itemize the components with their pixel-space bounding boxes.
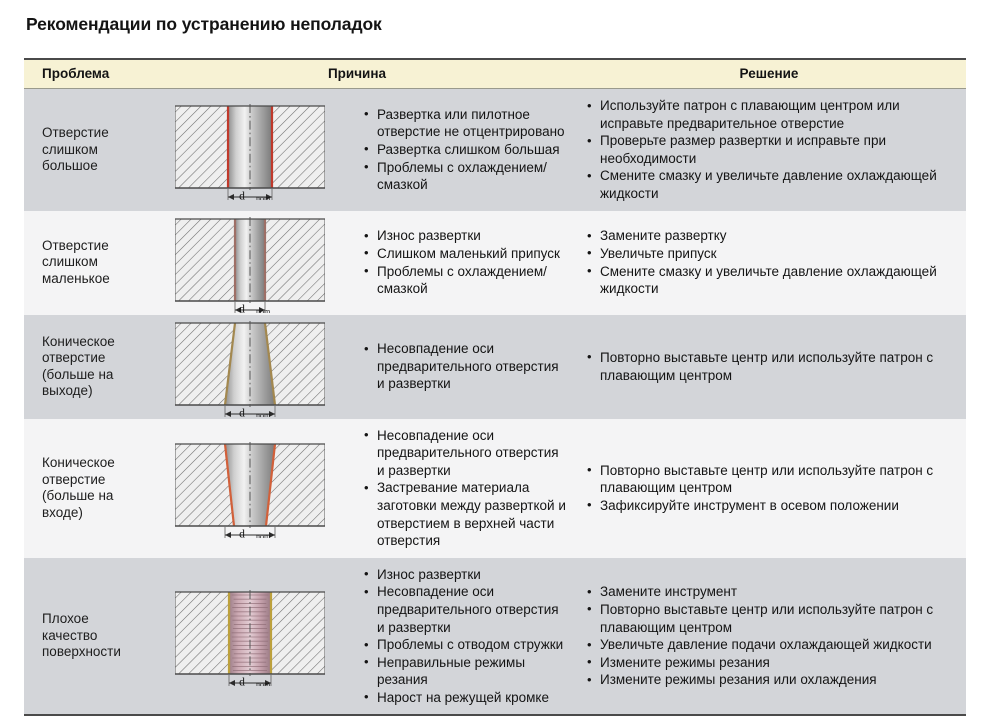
problem-label-line: поверхности	[42, 644, 136, 661]
cause-list: Износ разверткиСлишком маленький припуск…	[363, 227, 566, 297]
problem-label-line: Коническое	[42, 334, 136, 351]
problem-label-line: большое	[42, 158, 136, 175]
problem-label-line: качество	[42, 628, 136, 645]
problem-label-line: маленькое	[42, 271, 136, 288]
column-header-problem: Проблема	[24, 60, 142, 89]
cause-list: Износ разверткиНесовпадение оси предвари…	[363, 566, 566, 707]
hole-cross-section-diagram: d nom	[142, 558, 357, 715]
cause-item: Застревание материала заготовки между ра…	[363, 479, 566, 549]
hole-undersized-figure: d nom	[175, 215, 325, 313]
hole-cross-section-diagram: d nom	[142, 211, 357, 315]
solution-item: Измените режимы резания	[586, 654, 960, 672]
problem-label-line: слишком	[42, 142, 136, 159]
problem-label: Коническоеотверстие(больше навходе)	[24, 419, 142, 558]
table-row: Коническоеотверстие(больше навходе)	[24, 419, 966, 558]
problem-label-line: Коническое	[42, 455, 136, 472]
hole-cross-section-diagram: d nom	[142, 315, 357, 419]
svg-text:nom: nom	[256, 194, 271, 200]
solution-list: Замените разверткуУвеличьте припускСмени…	[586, 227, 960, 297]
hole-taper-exit-figure: d nom	[175, 319, 325, 417]
solution-item: Замените развертку	[586, 227, 960, 245]
solution-list-cell: Используйте патрон с плавающим центром и…	[572, 89, 966, 211]
cause-list-cell: Развертка или пилотное отверстие не отце…	[357, 89, 572, 211]
solution-list: Замените инструментПовторно выставьте це…	[586, 583, 960, 689]
problem-label: Отверстиеслишкомбольшое	[24, 89, 142, 211]
svg-text:d: d	[239, 303, 245, 313]
hole-cross-section-diagram: d nom	[142, 89, 357, 211]
cause-list-cell: Износ разверткиНесовпадение оси предвари…	[357, 558, 572, 715]
cause-list-cell: Износ разверткиСлишком маленький припуск…	[357, 211, 572, 315]
problem-label-line: входе)	[42, 505, 136, 522]
cause-item: Развертка слишком большая	[363, 141, 566, 159]
hole-rough-surface-figure: d nom	[175, 588, 325, 686]
svg-text:d: d	[239, 407, 245, 417]
solution-item: Повторно выставьте центр или используйте…	[586, 601, 960, 636]
cause-item: Нарост на режущей кромке	[363, 689, 566, 707]
cause-item: Неправильные режимы резания	[363, 654, 566, 689]
hole-taper-entry-figure: d nom	[175, 440, 325, 538]
problem-label-line: Отверстие	[42, 238, 136, 255]
svg-text:d: d	[239, 677, 245, 687]
solution-list-cell: Замените разверткуУвеличьте припускСмени…	[572, 211, 966, 315]
solution-item: Замените инструмент	[586, 583, 960, 601]
cause-item: Несовпадение оси предварительного отверс…	[363, 340, 566, 393]
solution-list-cell: Замените инструментПовторно выставьте це…	[572, 558, 966, 715]
cause-list: Несовпадение оси предварительного отверс…	[363, 427, 566, 550]
solution-item: Зафиксируйте инструмент в осевом положен…	[586, 497, 960, 515]
table-body: Отверстиеслишкомбольшое	[24, 89, 966, 715]
column-header-cause: Причина	[142, 60, 572, 89]
cause-item: Проблемы с охлаждением/смазкой	[363, 159, 566, 194]
cause-item: Проблемы с отводом стружки	[363, 636, 566, 654]
table-row: Коническоеотверстие(больше навыходе)	[24, 315, 966, 419]
table-row: Плохоекачествоповерхности	[24, 558, 966, 715]
solution-list: Повторно выставьте центр или используйте…	[586, 462, 960, 515]
cause-list-cell: Несовпадение оси предварительного отверс…	[357, 419, 572, 558]
problem-label: Коническоеотверстие(больше навыходе)	[24, 315, 142, 419]
table-row: Отверстиеслишкомбольшое	[24, 89, 966, 211]
hole-cross-section-diagram: d nom	[142, 419, 357, 558]
cause-item: Слишком маленький припуск	[363, 245, 566, 263]
troubleshooting-table-wrapper: Проблема Причина Решение Отверстиеслишко…	[24, 58, 966, 716]
table-header-row: Проблема Причина Решение	[24, 60, 966, 89]
cause-list: Развертка или пилотное отверстие не отце…	[363, 106, 566, 194]
table-row: Отверстиеслишкоммаленькое	[24, 211, 966, 315]
solution-item: Смените смазку и увеличьте давление охла…	[586, 167, 960, 202]
svg-text:d: d	[239, 529, 245, 539]
problem-label-line: отверстие	[42, 350, 136, 367]
svg-text:nom: nom	[256, 532, 271, 538]
cause-item: Износ развертки	[363, 566, 566, 584]
problem-label-line: отверстие	[42, 472, 136, 489]
problem-label-line: Отверстие	[42, 125, 136, 142]
svg-text:nom: nom	[256, 411, 271, 417]
problem-label-line: слишком	[42, 254, 136, 271]
troubleshooting-page: Рекомендации по устранению неполадок Про…	[0, 0, 990, 697]
problem-label: Плохоекачествоповерхности	[24, 558, 142, 715]
problem-label-line: (больше на	[42, 488, 136, 505]
table-head: Проблема Причина Решение	[24, 60, 966, 89]
solution-item: Используйте патрон с плавающим центром и…	[586, 97, 960, 132]
problem-label: Отверстиеслишкоммаленькое	[24, 211, 142, 315]
cause-item: Несовпадение оси предварительного отверс…	[363, 427, 566, 480]
problem-label-line: выходе)	[42, 383, 136, 400]
cause-list: Несовпадение оси предварительного отверс…	[363, 340, 566, 393]
cause-item: Проблемы с охлаждением/смазкой	[363, 263, 566, 298]
solution-item: Увеличьте припуск	[586, 245, 960, 263]
cause-item: Износ развертки	[363, 227, 566, 245]
solution-list: Используйте патрон с плавающим центром и…	[586, 97, 960, 203]
solution-item: Смените смазку и увеличьте давление охла…	[586, 263, 960, 298]
page-title: Рекомендации по устранению неполадок	[26, 14, 382, 35]
cause-item: Несовпадение оси предварительного отверс…	[363, 583, 566, 636]
column-header-solution: Решение	[572, 60, 966, 89]
solution-list: Повторно выставьте центр или используйте…	[586, 349, 960, 384]
problem-label-line: Плохое	[42, 611, 136, 628]
solution-list-cell: Повторно выставьте центр или используйте…	[572, 419, 966, 558]
svg-text:nom: nom	[256, 307, 271, 313]
solution-item: Повторно выставьте центр или используйте…	[586, 462, 960, 497]
svg-text:nom: nom	[256, 680, 271, 686]
troubleshooting-table: Проблема Причина Решение Отверстиеслишко…	[24, 60, 966, 714]
cause-list-cell: Несовпадение оси предварительного отверс…	[357, 315, 572, 419]
solution-item: Повторно выставьте центр или используйте…	[586, 349, 960, 384]
problem-label-line: (больше на	[42, 367, 136, 384]
solution-item: Увеличьте давление подачи охлаждающей жи…	[586, 636, 960, 654]
hole-oversized-figure: d nom	[175, 102, 325, 200]
svg-text:d: d	[239, 190, 245, 200]
solution-item: Измените режимы резания или охлаждения	[586, 671, 960, 689]
solution-item: Проверьте размер развертки и исправьте п…	[586, 132, 960, 167]
cause-item: Развертка или пилотное отверстие не отце…	[363, 106, 566, 141]
solution-list-cell: Повторно выставьте центр или используйте…	[572, 315, 966, 419]
